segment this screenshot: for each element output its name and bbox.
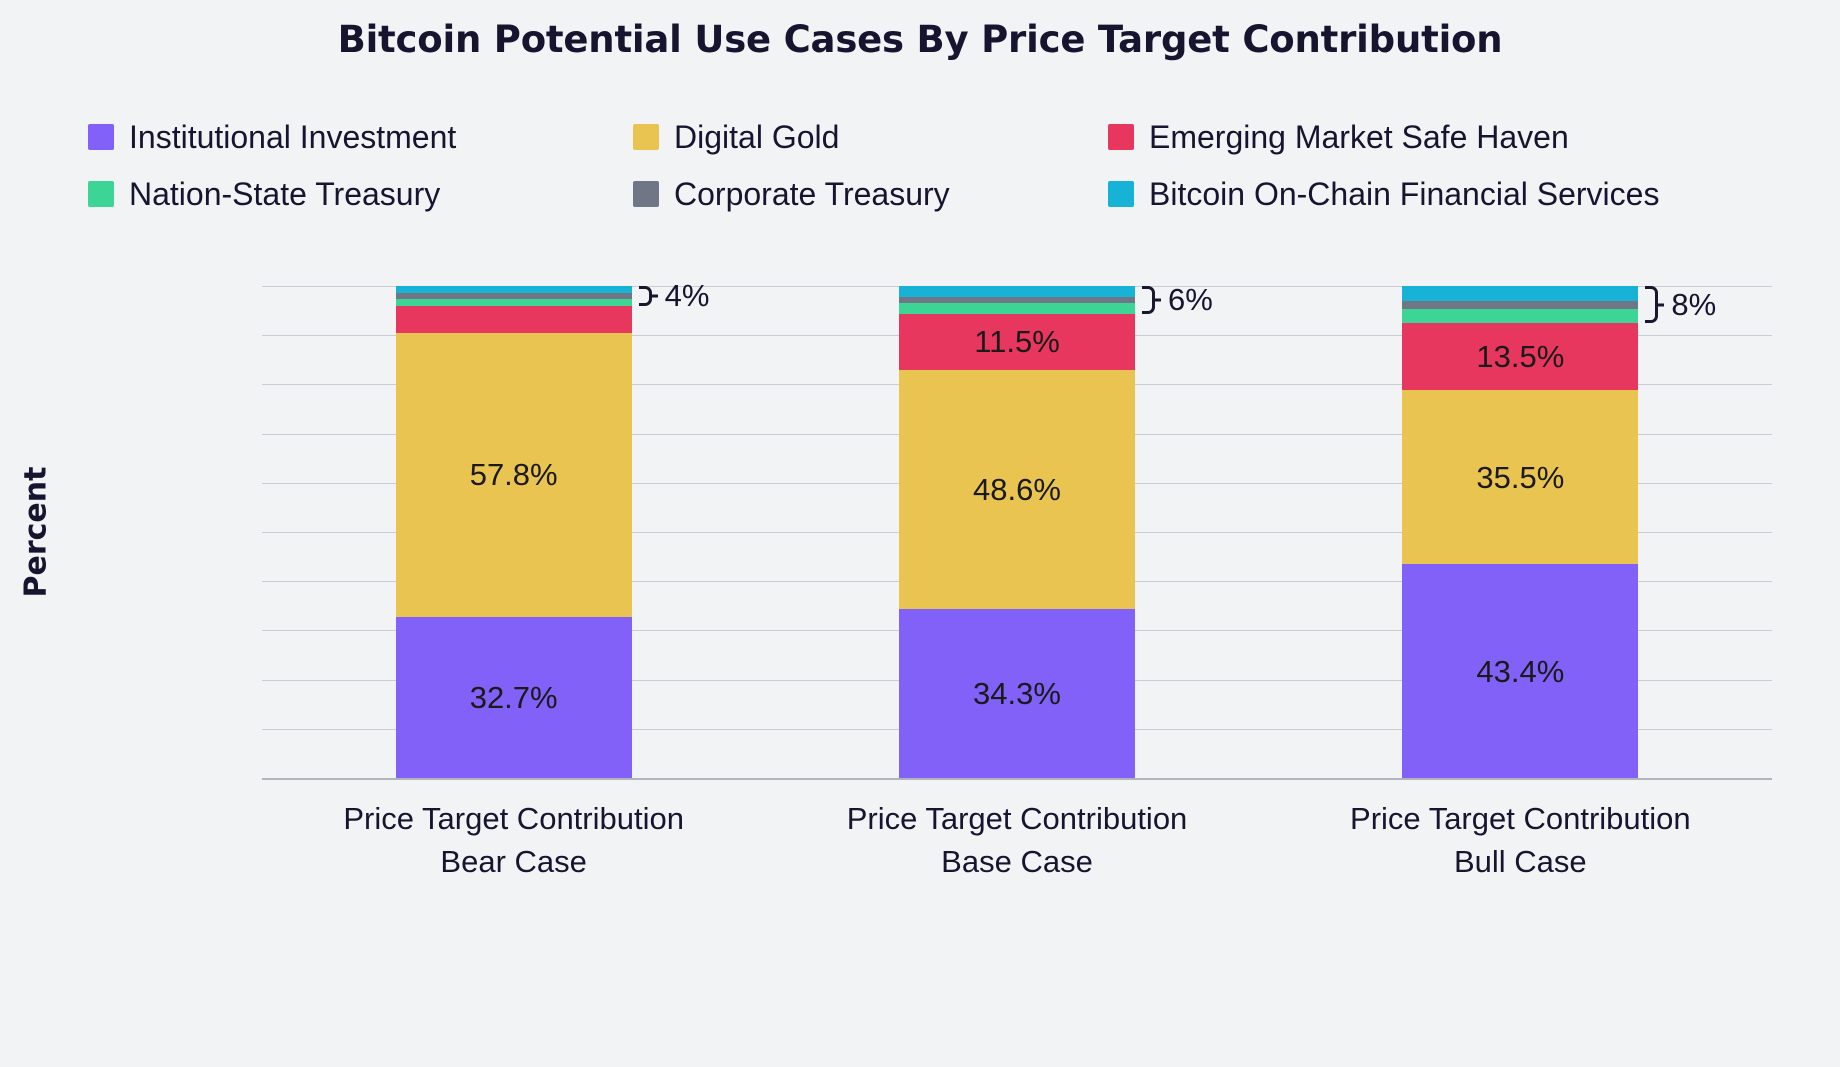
- x-axis-category-line2: Base Case: [765, 841, 1268, 884]
- legend-swatch-icon: [1108, 181, 1134, 207]
- bar-segment[interactable]: 34.3%: [899, 609, 1135, 778]
- legend-item-corporate-treasury[interactable]: Corporate Treasury: [633, 178, 1108, 210]
- bracket-annotation: 4%: [639, 286, 710, 306]
- bar-segment-label: 48.6%: [973, 474, 1061, 505]
- page-title: Bitcoin Potential Use Cases By Price Tar…: [0, 18, 1840, 61]
- legend-swatch-icon: [633, 124, 659, 150]
- bar-segment[interactable]: [1402, 286, 1638, 301]
- legend-item-bitcoin-on-chain-financial-services[interactable]: Bitcoin On-Chain Financial Services: [1108, 178, 1808, 210]
- bar-segment[interactable]: [899, 286, 1135, 297]
- legend-swatch-icon: [633, 181, 659, 207]
- bar-segment[interactable]: [396, 286, 632, 293]
- bar-segment-label: 57.8%: [470, 459, 558, 490]
- bar-segment[interactable]: [1402, 301, 1638, 309]
- bracket-annotation-label: 4%: [659, 278, 710, 314]
- x-axis-category-label: Price Target ContributionBear Case: [262, 798, 765, 884]
- bar-segment-label: 13.5%: [1476, 341, 1564, 372]
- legend-item-label: Digital Gold: [674, 121, 839, 153]
- bar-segment-label: 34.3%: [973, 678, 1061, 709]
- legend-item-institutional-investment[interactable]: Institutional Investment: [88, 121, 633, 153]
- bar-group[interactable]: 57.8%32.7%: [396, 286, 632, 778]
- bar-segment[interactable]: [1402, 309, 1638, 324]
- legend-item-digital-gold[interactable]: Digital Gold: [633, 121, 1108, 153]
- bar-segment-label: 43.4%: [1476, 656, 1564, 687]
- bracket-icon: [1142, 286, 1155, 314]
- legend-item-label: Emerging Market Safe Haven: [1149, 121, 1569, 153]
- chart-legend: Institutional Investment Digital Gold Em…: [88, 108, 1808, 222]
- x-axis-category-line1: Price Target Contribution: [765, 798, 1268, 841]
- gridline: [262, 778, 1772, 780]
- bar-segment[interactable]: 57.8%: [396, 333, 632, 617]
- bar-segment[interactable]: 32.7%: [396, 617, 632, 778]
- bar-segment-label: 11.5%: [974, 326, 1060, 357]
- y-axis-title: Percent: [19, 467, 54, 598]
- legend-swatch-icon: [88, 124, 114, 150]
- bar-segment[interactable]: 35.5%: [1402, 390, 1638, 565]
- bracket-annotation: 8%: [1645, 286, 1716, 323]
- x-axis-category-line1: Price Target Contribution: [262, 798, 765, 841]
- bracket-annotation-label: 8%: [1665, 287, 1716, 323]
- legend-item-label: Nation-State Treasury: [129, 178, 440, 210]
- bar-group[interactable]: 13.5%35.5%43.4%: [1402, 286, 1638, 778]
- legend-item-emerging-market-safe-haven[interactable]: Emerging Market Safe Haven: [1108, 121, 1808, 153]
- x-axis-category-label: Price Target ContributionBase Case: [765, 798, 1268, 884]
- bar-segment[interactable]: 43.4%: [1402, 564, 1638, 778]
- bar-stack: 11.5%48.6%34.3%: [899, 286, 1135, 778]
- bar-segment[interactable]: [396, 299, 632, 306]
- bar-segment-label: 35.5%: [1476, 462, 1564, 493]
- bar-stack: 57.8%32.7%: [396, 286, 632, 778]
- bar-segment[interactable]: [396, 306, 632, 333]
- bracket-icon: [1645, 286, 1658, 323]
- x-axis-category-label: Price Target ContributionBull Case: [1269, 798, 1772, 884]
- bar-segment[interactable]: 11.5%: [899, 314, 1135, 371]
- bar-group[interactable]: 11.5%48.6%34.3%: [899, 286, 1135, 778]
- bar-stack: 13.5%35.5%43.4%: [1402, 286, 1638, 778]
- legend-item-label: Bitcoin On-Chain Financial Services: [1149, 178, 1659, 210]
- bar-segment[interactable]: 13.5%: [1402, 323, 1638, 389]
- x-axis-category-line2: Bull Case: [1269, 841, 1772, 884]
- bar-segment[interactable]: 48.6%: [899, 370, 1135, 609]
- legend-swatch-icon: [88, 181, 114, 207]
- bar-segment-label: 32.7%: [470, 682, 558, 713]
- legend-item-label: Institutional Investment: [129, 121, 456, 153]
- legend-item-nation-state-treasury[interactable]: Nation-State Treasury: [88, 178, 633, 210]
- legend-item-label: Corporate Treasury: [674, 178, 950, 210]
- x-axis-category-line1: Price Target Contribution: [1269, 798, 1772, 841]
- x-axis-category-line2: Bear Case: [262, 841, 765, 884]
- plot-area: 57.8%32.7%Price Target ContributionBear …: [262, 286, 1772, 778]
- legend-swatch-icon: [1108, 124, 1134, 150]
- bracket-annotation: 6%: [1142, 286, 1213, 314]
- bracket-annotation-label: 6%: [1162, 282, 1213, 318]
- bracket-icon: [639, 286, 652, 306]
- bar-segment[interactable]: [899, 303, 1135, 314]
